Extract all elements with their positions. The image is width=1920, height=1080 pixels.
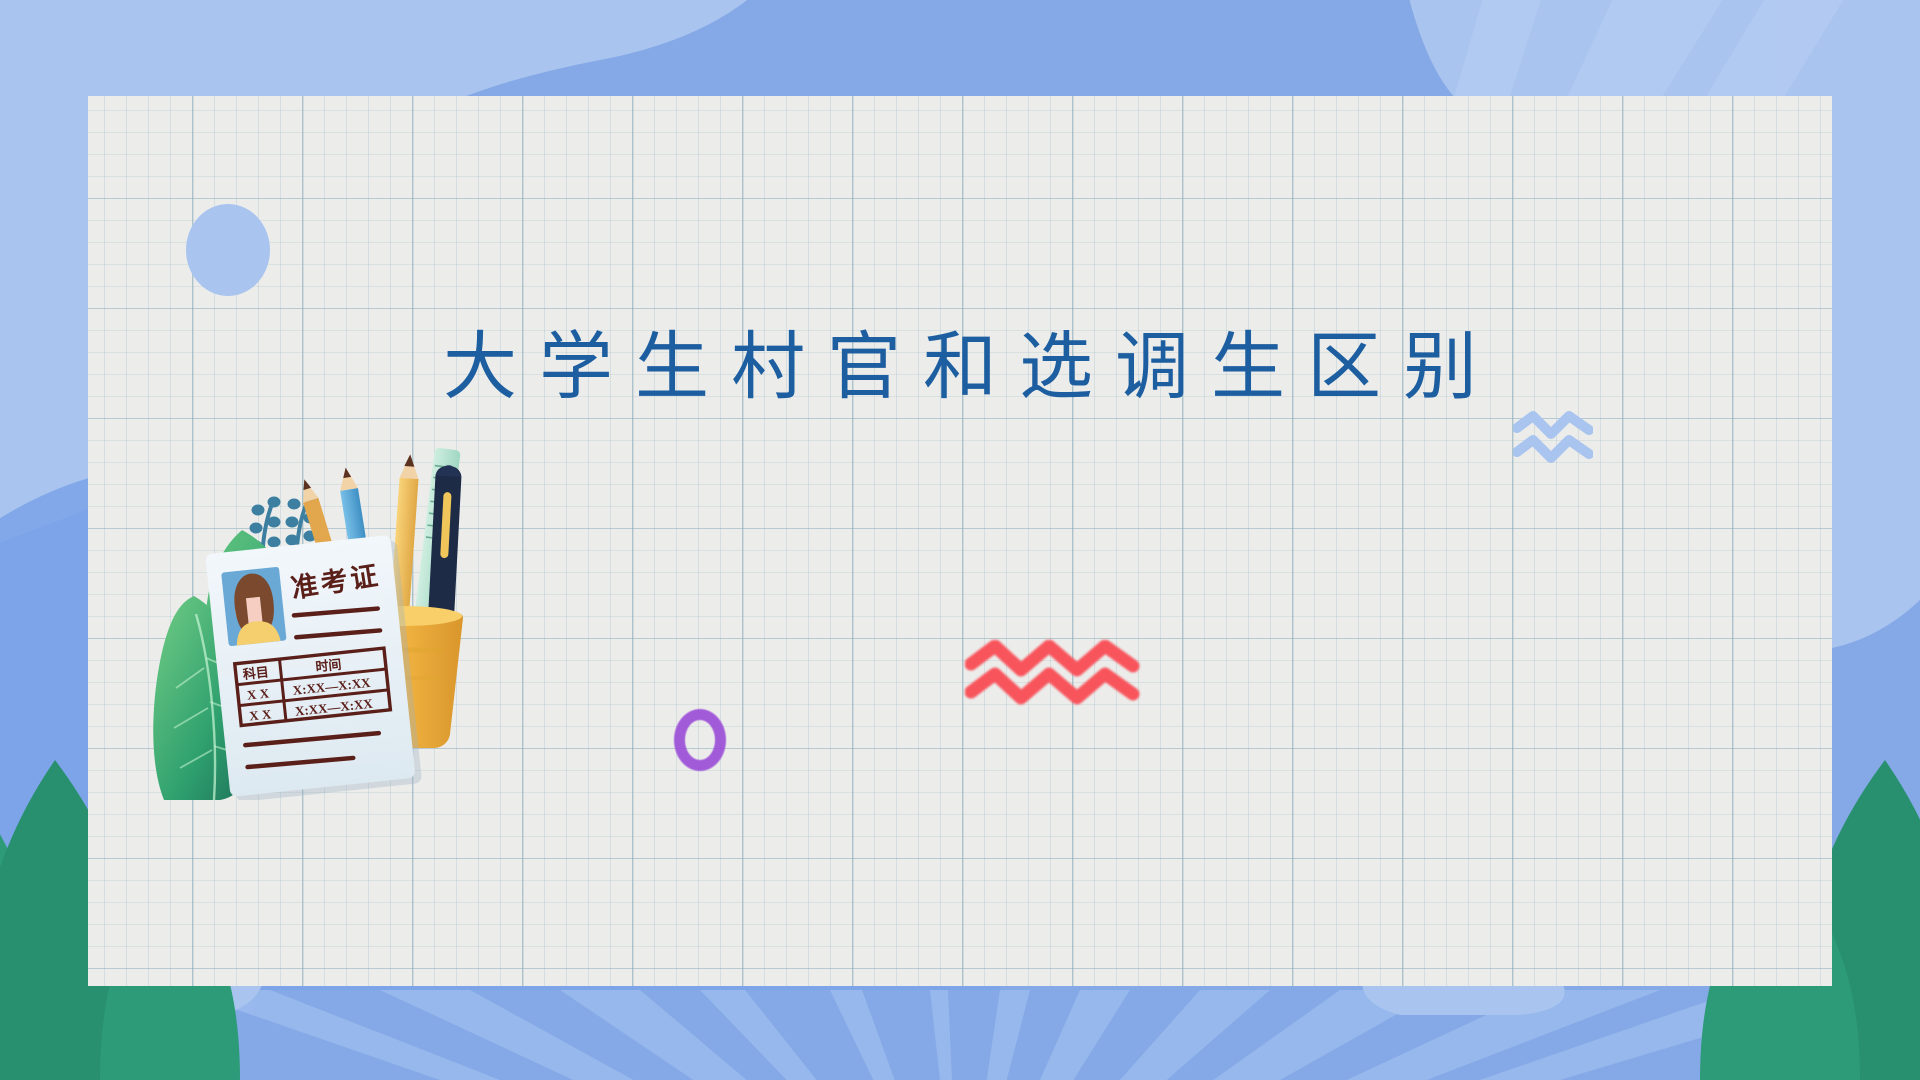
table-cell-subject-1: X X — [246, 685, 270, 702]
purple-ring-icon — [674, 709, 726, 771]
table-header-time: 时间 — [315, 657, 342, 675]
student-photo-icon — [221, 567, 286, 647]
red-zigzag-wave-icon — [965, 640, 1140, 710]
exam-admission-ticket-illustration: 准考证 科目 时间 X X X:XX—X:XX X X X:XX— — [150, 400, 490, 800]
table-cell-subject-2: X X — [248, 706, 272, 723]
blue-circle — [186, 204, 270, 296]
page-title: 大学生村官和选调生区别 — [0, 330, 1920, 404]
table-header-subject: 科目 — [242, 664, 269, 682]
admission-ticket-card: 准考证 科目 时间 X X X:XX—X:XX X X X:XX— — [205, 534, 422, 800]
blue-zigzag-wave-icon — [1513, 410, 1593, 470]
illustration-svg: 准考证 科目 时间 X X X:XX—X:XX X X X:XX— — [150, 400, 490, 800]
